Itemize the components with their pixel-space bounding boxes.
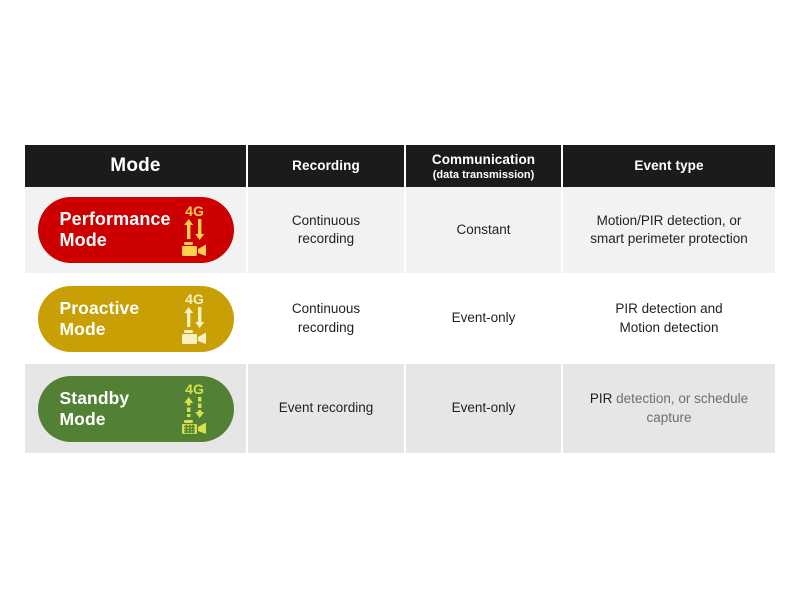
video-camera-icon [181,329,209,345]
mode-badge-icon-group: 4G [178,381,212,437]
table-header: Mode Recording Communication (data trans… [25,145,775,187]
recording-cell: Event recording [247,364,405,453]
event-type-cell: PIR detection and Motion detection [562,273,775,364]
header-sublabel-communication: (data transmission) [412,169,555,182]
network-4g-label: 4G [185,292,204,306]
header-label-event-type: Event type [634,158,703,173]
mode-badge-proactive: Proactive Mode 4G [38,286,234,352]
slide-canvas: Mode Recording Communication (data trans… [0,0,800,600]
mode-cell-proactive: Proactive Mode 4G [25,273,247,364]
mode-badge-performance: Performance Mode 4G [38,197,234,263]
table-row: Standby Mode 4G [25,364,775,453]
header-cell-recording: Recording [247,145,405,187]
up-down-arrows-icon [182,219,208,240]
mode-cell-standby: Standby Mode 4G [25,364,247,453]
up-down-dashed-arrows-icon [182,397,208,418]
header-cell-mode: Mode [25,145,247,187]
event-type-strong: PIR [590,391,616,406]
event-type-text: Motion/PIR detection, or smart perimeter… [590,213,748,246]
network-4g-label: 4G [185,382,204,396]
mode-badge-label: Proactive Mode [60,298,140,339]
header-label-mode: Mode [110,155,160,176]
event-type-text: PIR detection and Motion detection [615,301,722,334]
network-4g-label: 4G [185,204,204,218]
modes-table-container: Mode Recording Communication (data trans… [25,145,775,453]
mode-badge-icon-group: 4G [178,202,212,258]
header-label-recording: Recording [292,158,360,173]
mode-cell-performance: Performance Mode 4G [25,187,247,273]
communication-cell: Constant [405,187,562,273]
video-camera-icon [181,241,209,257]
event-type-cell: Motion/PIR detection, or smart perimeter… [562,187,775,273]
recording-cell: Continuous recording [247,187,405,273]
table-row: Proactive Mode 4G [25,273,775,364]
mode-badge-label: Performance Mode [60,209,171,251]
communication-text: Event-only [452,310,516,325]
header-label-communication: Communication [432,152,535,167]
table-body: Performance Mode 4G [25,187,775,453]
mode-badge-label: Standby Mode [60,388,130,429]
communication-text: Constant [456,222,510,237]
table-row: Performance Mode 4G [25,187,775,273]
mode-badge-icon-group: 4G [178,291,212,347]
communication-cell: Event-only [405,273,562,364]
header-cell-event-type: Event type [562,145,775,187]
communication-text: Event-only [452,400,516,415]
recording-cell: Continuous recording [247,273,405,364]
recording-text: Continuous recording [292,301,360,334]
event-type-cell: PIR detection, or schedule capture [562,364,775,453]
recording-text: Continuous recording [292,213,360,246]
event-type-text: detection, or schedule capture [616,391,748,424]
communication-cell: Event-only [405,364,562,453]
up-down-arrows-icon [182,307,208,328]
modes-table: Mode Recording Communication (data trans… [25,145,775,453]
mode-badge-standby: Standby Mode 4G [38,376,234,442]
recording-text: Event recording [279,400,374,415]
video-camera-off-icon [181,419,209,435]
header-cell-communication: Communication (data transmission) [405,145,562,187]
header-row: Mode Recording Communication (data trans… [25,145,775,187]
